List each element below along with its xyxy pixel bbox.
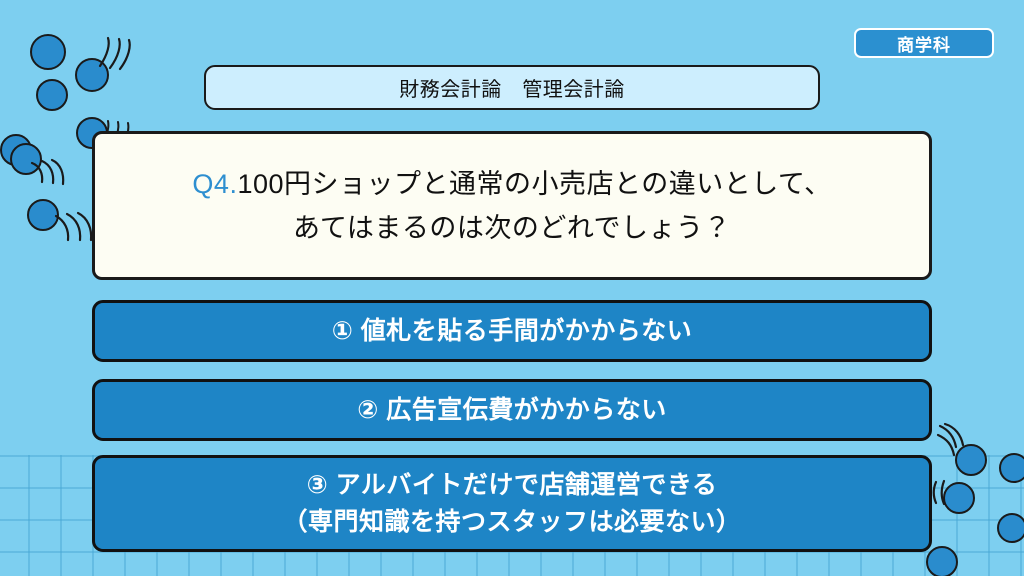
decor-bubble xyxy=(10,143,42,175)
decor-bubble xyxy=(955,444,987,476)
question-text-line-2: あてはまるのは次のどれでしょう？ xyxy=(293,213,731,243)
answer-option-3[interactable]: ③ アルバイトだけで店舗運営できる （専門知識を持つスタッフは必要ない） xyxy=(92,455,932,552)
decor-bubble xyxy=(27,199,59,231)
question-card: Q4.100円ショップと通常の小売店との違いとして、 あてはまるのは次のどれでし… xyxy=(92,131,932,280)
question-number-label: Q4. xyxy=(192,169,237,199)
decor-bubble xyxy=(999,453,1024,483)
question-line-1: Q4.100円ショップと通常の小売店との違いとして、 xyxy=(192,162,831,206)
department-badge-label: 商学科 xyxy=(897,31,951,56)
decor-bubble xyxy=(943,482,975,514)
answer-option-2[interactable]: ② 広告宣伝費がかからない xyxy=(92,379,932,441)
decor-bubble xyxy=(36,79,68,111)
question-text-line-1: 100円ショップと通常の小売店との違いとして、 xyxy=(237,169,831,199)
slide-canvas: 商学科 財務会計論 管理会計論 Q4.100円ショップと通常の小売店との違いとし… xyxy=(0,0,1024,576)
decor-bubble xyxy=(997,513,1024,543)
question-line-2: あてはまるのは次のどれでしょう？ xyxy=(293,206,731,250)
decor-bubble xyxy=(926,546,958,576)
department-badge: 商学科 xyxy=(854,28,994,58)
slide-title-text: 財務会計論 管理会計論 xyxy=(399,73,625,102)
answer-option-1[interactable]: ① 値札を貼る手間がかからない xyxy=(92,300,932,362)
answer-option-2-line-1: ② 広告宣伝費がかからない xyxy=(357,392,667,429)
answer-option-3-line-1: ③ アルバイトだけで店舗運営できる xyxy=(307,467,718,504)
answer-option-1-line-1: ① 値札を貼る手間がかからない xyxy=(332,313,693,350)
decor-bubble xyxy=(30,34,66,70)
answer-option-3-line-2: （専門知識を持つスタッフは必要ない） xyxy=(282,504,741,541)
slide-title-bar: 財務会計論 管理会計論 xyxy=(204,65,820,110)
decor-bubble xyxy=(75,58,109,92)
